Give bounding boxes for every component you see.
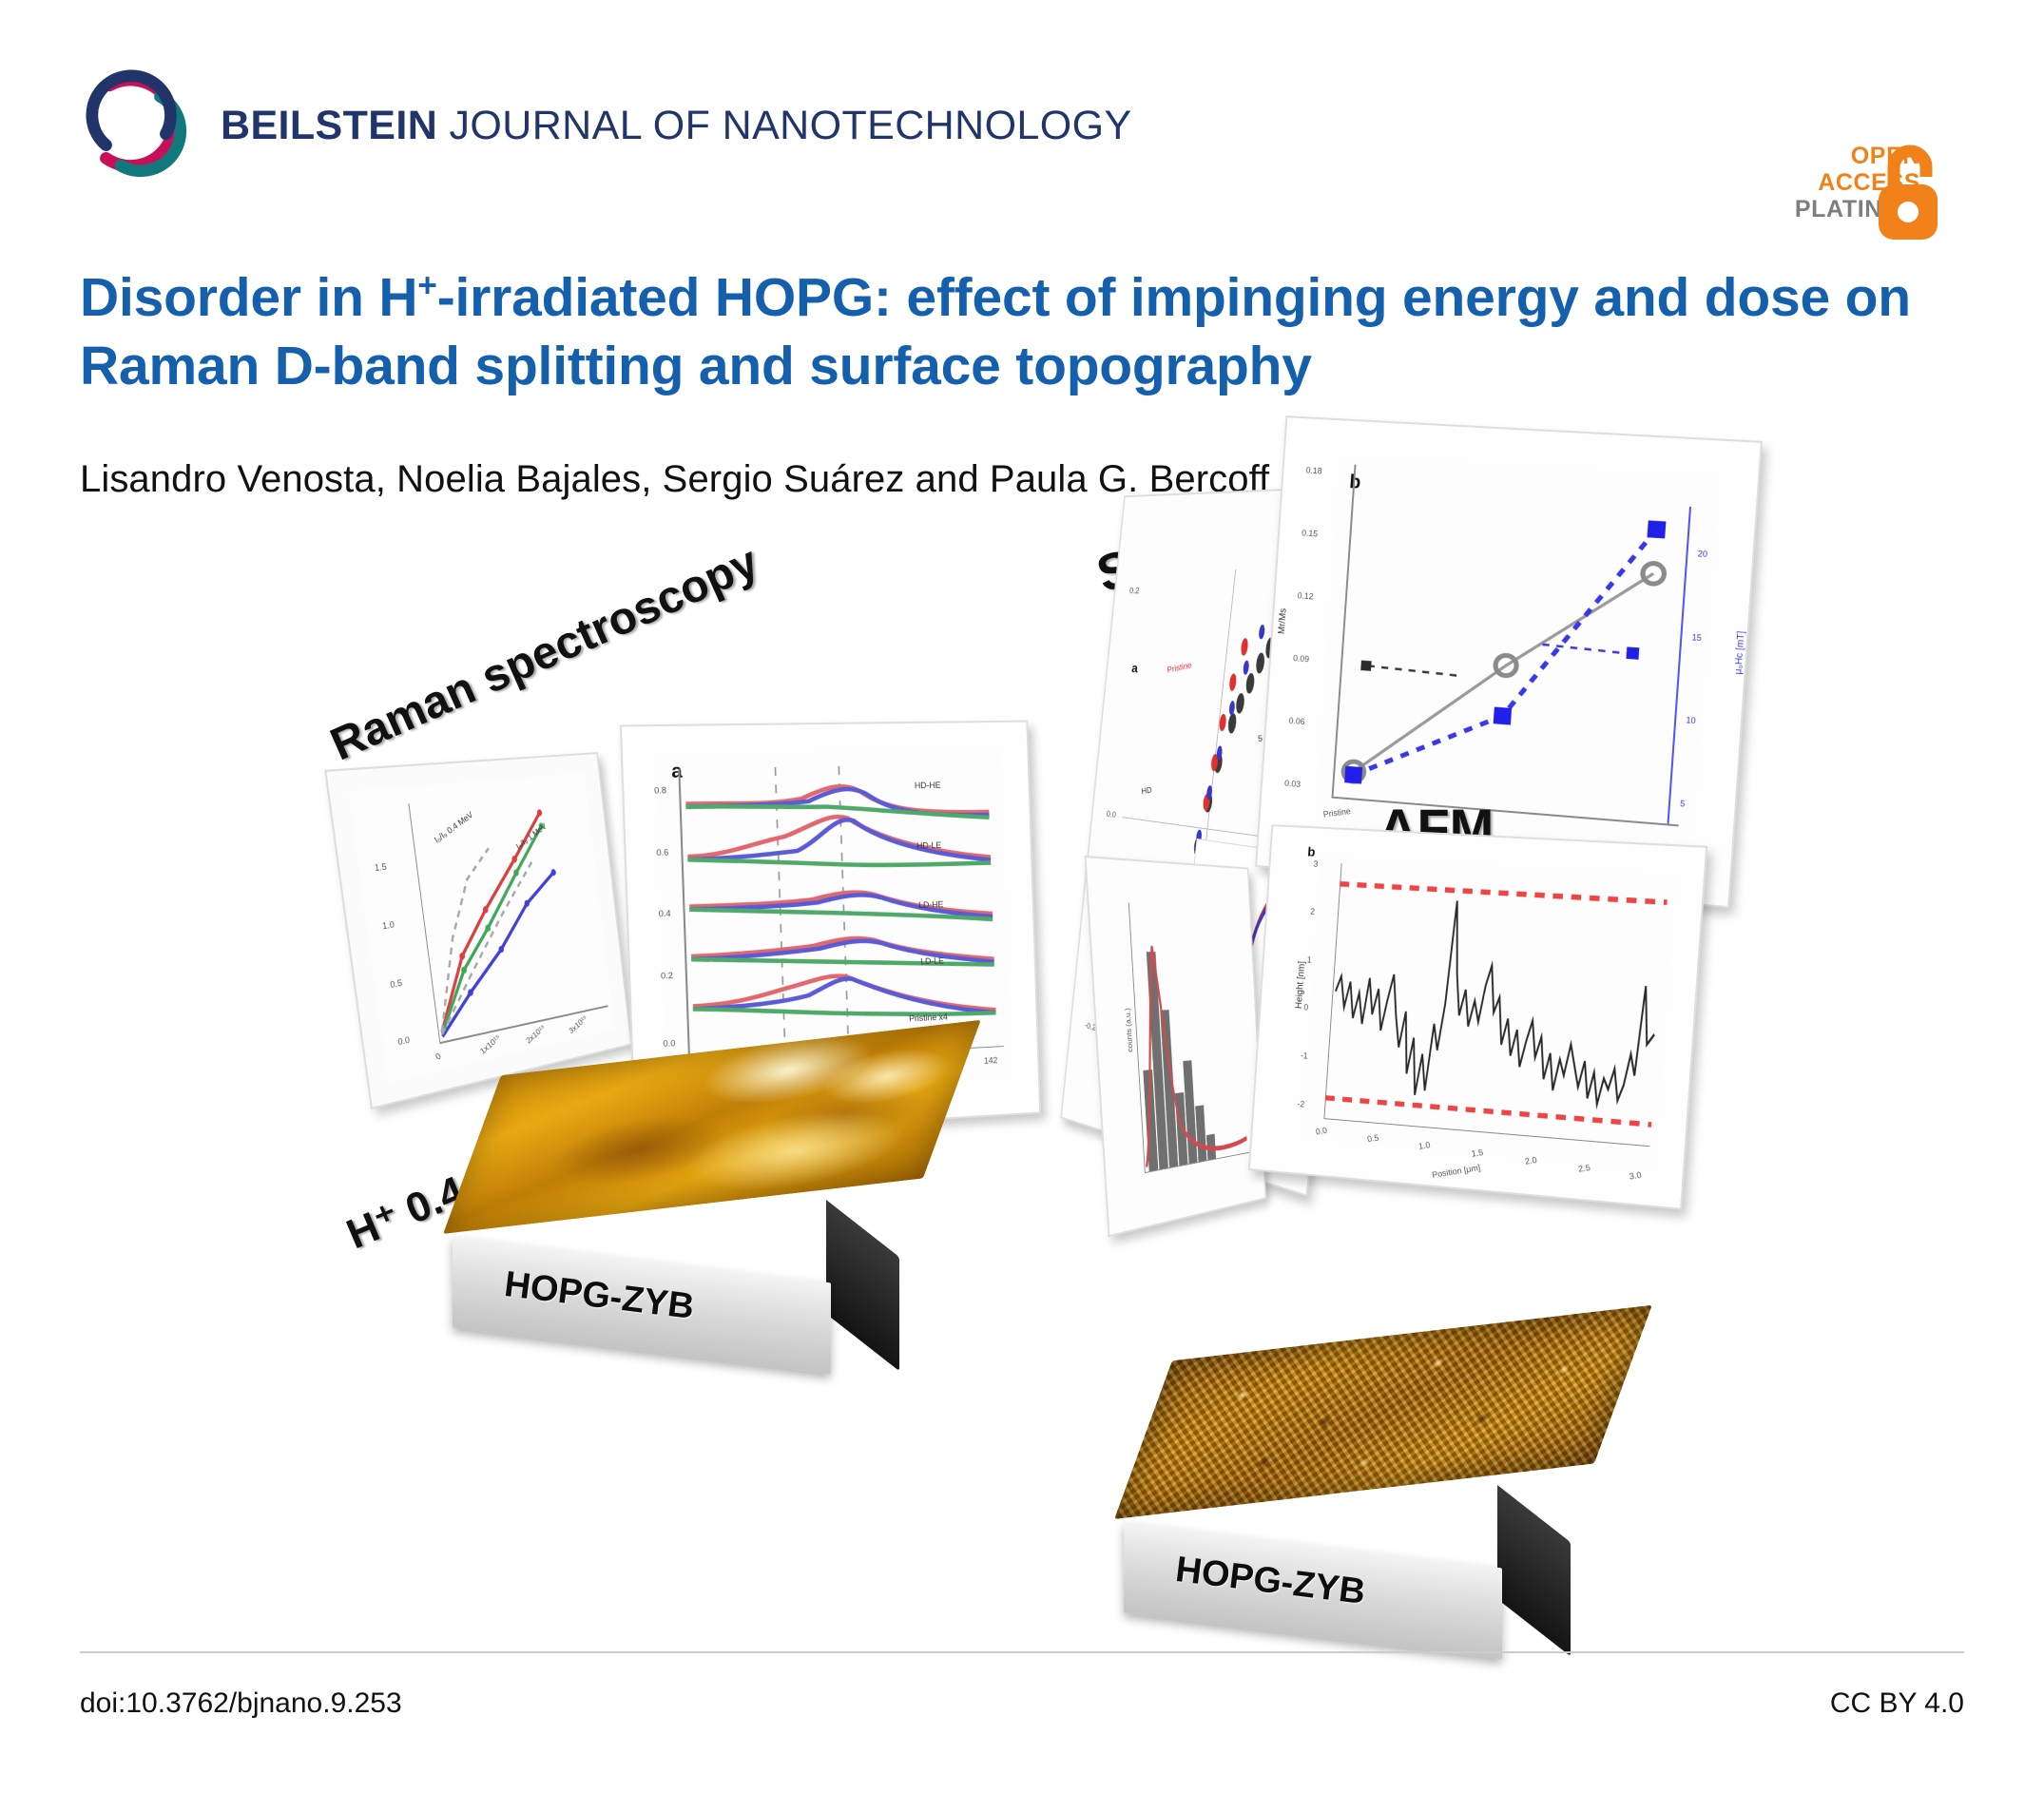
raman-trend-xtick-2: 2x10¹⁵ xyxy=(524,1023,546,1046)
panel-b-ytick-5: 0.18 xyxy=(1305,466,1322,476)
sample-side-face-pristine xyxy=(826,1200,899,1371)
spectra-ytick-0: 0.0 xyxy=(663,1038,675,1049)
panel-b-ylabel-right: μ₀Hc [mT] xyxy=(1733,630,1747,674)
panel-b-ylabel-left: Mr/Ms xyxy=(1277,607,1288,634)
panel-b-rtick-1: 10 xyxy=(1686,716,1696,726)
open-access-badge: OPEN ACCESS PLATINUM xyxy=(1761,68,1989,183)
panel-b-ytick-3: 0.12 xyxy=(1297,590,1314,601)
open-access-padlock-icon xyxy=(1871,139,1945,245)
raman-trend-xtick-1: 1x10¹⁵ xyxy=(478,1032,501,1056)
afm-surface-irradiated xyxy=(1114,1305,1652,1519)
afm-profile-xlabel: Position [μm] xyxy=(1431,1163,1480,1180)
spectra-ytick-1: 0.2 xyxy=(661,971,673,981)
footer-divider xyxy=(80,1651,1964,1653)
raman-trend-xtick-3: 3x10¹⁵ xyxy=(568,1013,588,1035)
raman-trend-ytick-1: 0.5 xyxy=(390,977,403,990)
sample-side-face-irradiated xyxy=(1497,1485,1571,1656)
afm-profile-xtick-3: 1.5 xyxy=(1471,1147,1484,1159)
afm-profile-ytick-1: -1 xyxy=(1301,1051,1308,1060)
author-list: Lisandro Venosta, Noelia Bajales, Sergio… xyxy=(80,458,1269,501)
afm-hist-ylabel: counts (a.u.) xyxy=(1124,1008,1134,1052)
panel-b-rtick-2: 15 xyxy=(1691,632,1702,643)
journal-title: BEILSTEIN JOURNAL OF NANOTECHNOLOGY xyxy=(221,103,1132,149)
spectra-trace-label-0: HD-HE xyxy=(915,781,941,790)
spectra-ytick-2: 0.4 xyxy=(659,909,671,919)
journal-brand: BEILSTEIN xyxy=(221,103,437,148)
panel-b-plot: b 0.03 0.06 0.09 0.12 0.15 xyxy=(1315,456,1719,857)
panel-afm-letter: b xyxy=(1307,844,1316,859)
spectra-trace-label-4: Pristine x4 xyxy=(909,1012,948,1024)
page-title: Disorder in H+-irradiated HOPG: effect o… xyxy=(80,264,1962,401)
panel-afm-profile-plot: b -2 -1 0 1 2 3 Height [nm] 0.0 0.5 1.0 … xyxy=(1302,857,1676,1169)
afm-profile-ytick-4: 2 xyxy=(1310,907,1315,916)
afm-profile-xtick-5: 2.5 xyxy=(1577,1163,1591,1174)
panel-b-xtick-0: Pristine xyxy=(1322,806,1351,819)
afm-profile-ytick-0: -2 xyxy=(1297,1099,1304,1109)
squid-annotation-hd: HD xyxy=(1141,785,1152,796)
page-header: BEILSTEIN JOURNAL OF NANOTECHNOLOGY OPEN… xyxy=(0,0,2044,219)
title-superscript-plus: + xyxy=(417,267,436,304)
panel-b-ytick-4: 0.15 xyxy=(1302,529,1319,539)
squid-ytick-mid: 0.0 xyxy=(1106,809,1116,819)
afm-profile-xtick-2: 1.0 xyxy=(1418,1140,1432,1151)
spectra-ytick-4: 0.8 xyxy=(654,785,666,795)
afm-profile-xtick-6: 3.0 xyxy=(1629,1170,1642,1182)
afm-profile-ylabel: Height [nm] xyxy=(1295,961,1308,1010)
panel-b-rtick-3: 20 xyxy=(1697,549,1707,559)
raman-trend-ytick-3: 1.5 xyxy=(374,862,387,874)
spectra-trace-label-2: LD-HE xyxy=(918,899,943,910)
title-line-1-post: -irradiated HOPG: effect of impinging en… xyxy=(437,267,1579,328)
panel-b-ytick-0: 0.03 xyxy=(1284,779,1302,789)
doi-text: doi:10.3762/bjnano.9.253 xyxy=(80,1687,402,1720)
license-text: CC BY 4.0 xyxy=(1830,1687,1964,1720)
title-line-1-pre: Disorder in H xyxy=(80,267,417,328)
spectra-trace-label-1: HD-LE xyxy=(916,840,941,851)
panel-b-ytick-2: 0.09 xyxy=(1293,653,1310,664)
panel-raman-trend-plot: I₀/I₉ 0.4 MeV I₀/I₉ 1 MeV 0.0 0.5 1.0 1.… xyxy=(348,773,615,1084)
panel-b-rtick-0: 5 xyxy=(1680,799,1686,809)
graphical-abstract: Raman spectroscopy I₀/I₉ 0.4 MeV I₀/I₉ 1… xyxy=(0,532,2044,1626)
afm-profile-xtick-4: 2.0 xyxy=(1524,1155,1537,1166)
panel-afm-histogram-plot: counts (a.u.) xyxy=(1099,881,1256,1210)
afm-profile-ytick-5: 3 xyxy=(1313,858,1318,868)
raman-trend-ytick-0: 0.0 xyxy=(397,1034,411,1047)
spectra-ytick-3: 0.6 xyxy=(656,847,668,858)
afm-profile-xtick-1: 0.5 xyxy=(1366,1132,1379,1144)
panel-afm-histogram: counts (a.u.) xyxy=(1085,856,1267,1238)
raman-trend-xtick-0: 0 xyxy=(434,1051,442,1061)
beilstein-rings-logo xyxy=(78,68,190,181)
spectra-trace-label-3: LD-LE xyxy=(920,956,944,967)
panel-raman-trend: I₀/I₉ 0.4 MeV I₀/I₉ 1 MeV 0.0 0.5 1.0 1.… xyxy=(324,752,632,1109)
panel-afm-profile: b -2 -1 0 1 2 3 Height [nm] 0.0 0.5 1.0 … xyxy=(1248,824,1707,1210)
spectra-xtick-5: 142 xyxy=(984,1056,998,1067)
journal-subtitle: JOURNAL OF NANOTECHNOLOGY xyxy=(437,103,1131,148)
afm-profile-xtick-0: 0.0 xyxy=(1315,1126,1327,1137)
sample-block-irradiated: HOPG-ZYB xyxy=(1114,1359,1571,1645)
squid-ytick-top: 0.2 xyxy=(1129,587,1140,596)
sample-block-pristine: HOPG-ZYB xyxy=(443,1074,899,1359)
afm-profile-ytick-3: 1 xyxy=(1307,954,1312,964)
panel-b-ytick-1: 0.06 xyxy=(1288,716,1305,726)
raman-trend-ytick-2: 1.0 xyxy=(382,920,395,932)
